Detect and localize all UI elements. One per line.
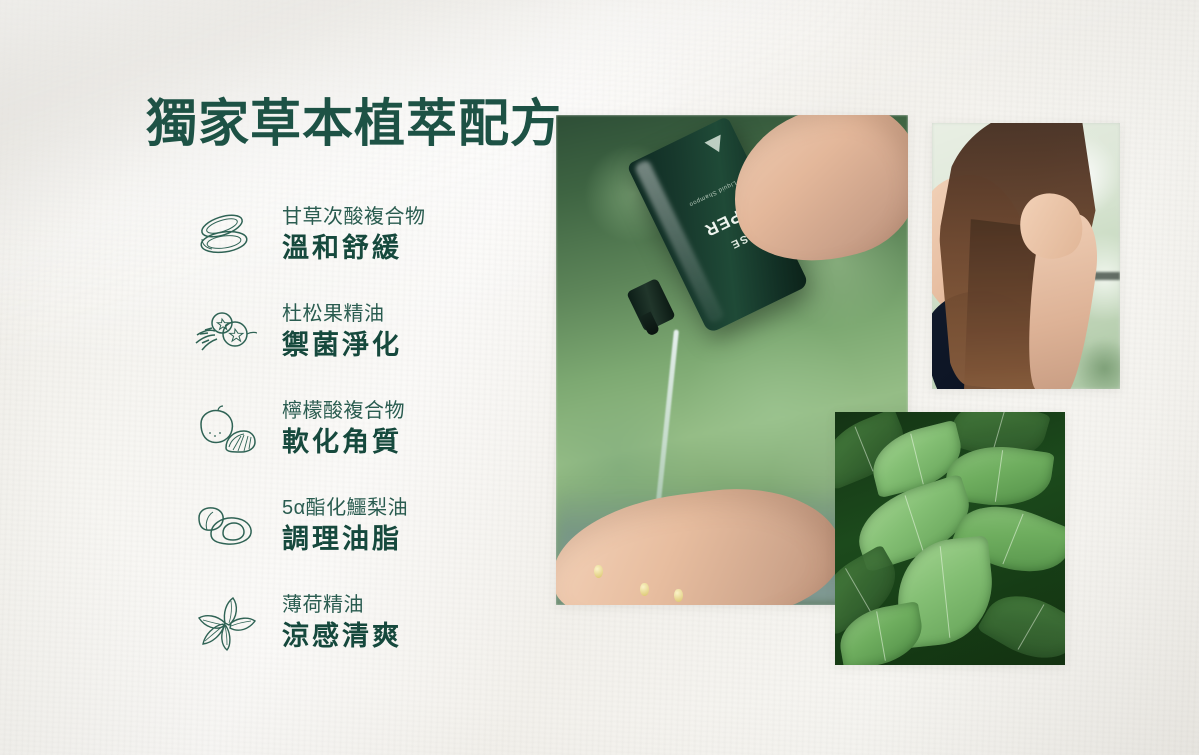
list-item-text: 5α酯化鱷梨油 調理油脂 — [260, 496, 408, 556]
woman-touching-hair-photo — [932, 123, 1120, 389]
list-item-text: 檸檬酸複合物 軟化角質 — [260, 399, 405, 459]
ingredient-benefit: 禦菌淨化 — [282, 328, 402, 362]
avocado-icon — [190, 494, 260, 558]
mint-leaves-closeup-photo — [835, 412, 1065, 665]
licorice-slices-icon — [190, 203, 260, 267]
avocado-icon-wrapper: 5α酯化鱷梨油 調理油脂 — [190, 477, 530, 574]
promo-banner: 獨家草本植萃配方 甘草次酸複合物 溫和舒緩 — [0, 0, 1199, 755]
ingredient-benefit: 涼感清爽 — [282, 619, 402, 653]
droplet — [640, 583, 649, 596]
ingredient-name: 薄荷精油 — [282, 593, 402, 617]
bottle-triangle-logo — [705, 135, 728, 156]
ingredient-name: 檸檬酸複合物 — [282, 399, 405, 423]
droplet — [594, 565, 603, 578]
ingredient-list: 甘草次酸複合物 溫和舒緩 杜松果精油 禦菌淨化 — [190, 186, 530, 671]
ingredient-benefit: 溫和舒緩 — [282, 231, 426, 265]
ingredient-name: 5α酯化鱷梨油 — [282, 496, 408, 520]
ingredient-name: 杜松果精油 — [282, 302, 402, 326]
list-item: 薄荷精油 涼感清爽 — [190, 574, 530, 671]
ingredient-benefit: 軟化角質 — [282, 425, 405, 459]
list-item-text: 杜松果精油 禦菌淨化 — [260, 302, 402, 362]
page-title: 獨家草本植萃配方 — [146, 97, 562, 151]
list-item: 杜松果精油 禦菌淨化 — [190, 283, 530, 380]
list-item: 檸檬酸複合物 軟化角質 — [190, 380, 530, 477]
juniper-berry-icon — [190, 300, 260, 364]
lemon-icon — [190, 397, 260, 461]
ingredient-name: 甘草次酸複合物 — [282, 205, 426, 229]
mint-leaf-icon — [190, 591, 260, 655]
ingredient-benefit: 調理油脂 — [282, 522, 408, 556]
list-item-text: 薄荷精油 涼感清爽 — [260, 593, 402, 653]
list-item: 甘草次酸複合物 溫和舒緩 — [190, 186, 530, 283]
droplet — [674, 589, 683, 602]
list-item-text: 甘草次酸複合物 溫和舒緩 — [260, 205, 426, 265]
